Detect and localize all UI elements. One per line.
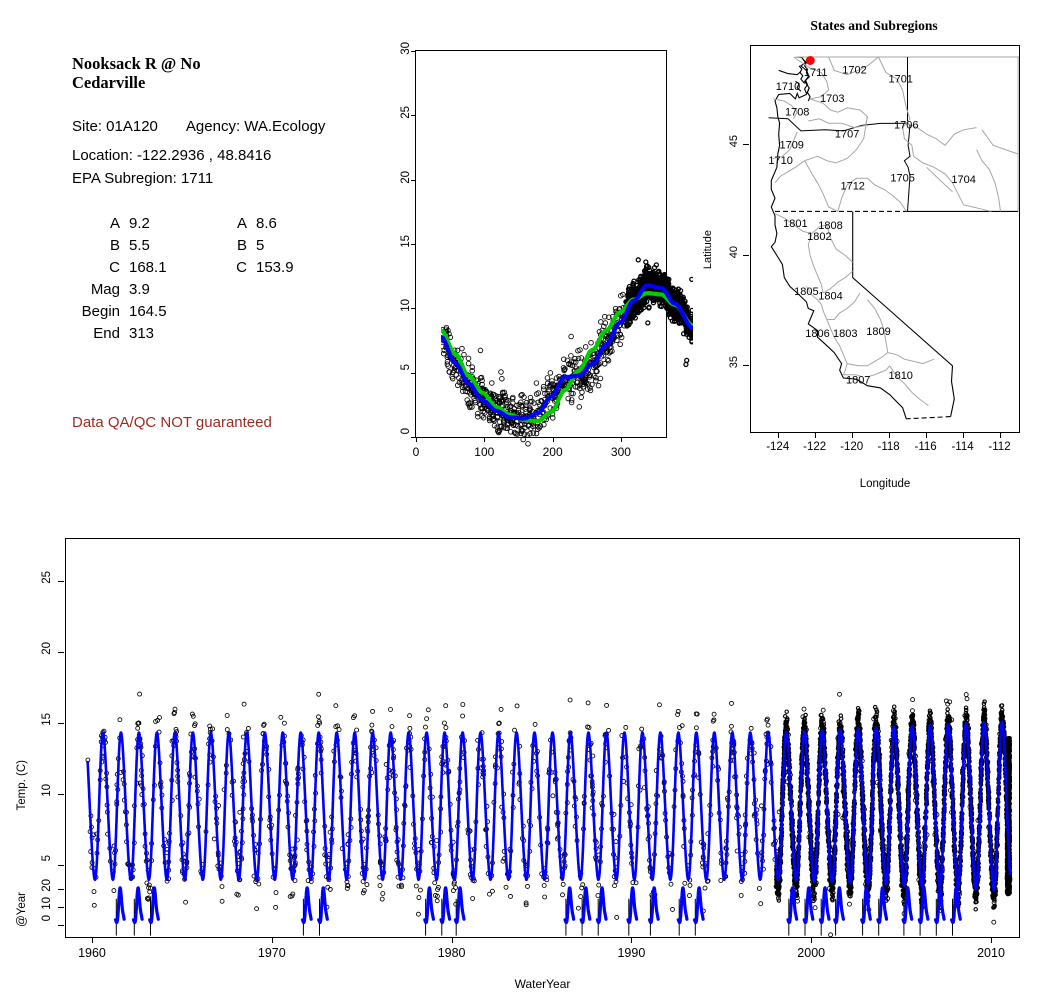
ts-y-tick-label: 20 [41,642,53,655]
states-subregions-map: 1711170217011710170317081706170717091710… [751,46,1019,432]
ts-y-tick-mark [58,925,64,926]
ts-x-tick-mark [452,937,453,943]
subregion-label-1803: 1803 [833,328,857,340]
site-location-marker [806,56,815,65]
ts-y-tick-label: 10 [41,897,53,910]
ts-x-tick-mark [272,937,273,943]
table-row: B 5.5 B 5 [72,237,336,259]
subregion-label-1801: 1801 [783,218,807,230]
subregion-label-1809: 1809 [866,326,890,338]
map-x-tick-label: -124 [766,441,789,453]
param-label: End [72,325,129,347]
map-y-tick-mark [743,255,749,256]
map-y-tick-mark [743,144,749,145]
subregion-label-1805: 1805 [794,286,818,298]
param-value-2: 153.9 [256,259,336,281]
subregion-label-1703: 1703 [820,93,844,105]
ca-mexico-border [906,417,950,419]
x-tick-label: 200 [543,445,563,459]
site-location-label: Location: -122.2936 , 48.8416 [72,147,271,164]
seasonal-scatter-chart [441,81,693,469]
ts-x-tick-mark [92,937,93,943]
y-tick-mark [411,373,416,374]
timeseries-x-axis-label: WaterYear [65,977,1020,991]
subregion-boundary-18 [823,271,853,293]
x-tick-mark [621,437,622,442]
map-x-tick-mark [889,432,890,438]
map-y-tick-mark [743,365,749,366]
id-mt-border-lower [982,130,1018,154]
param-value-2: 8.6 [256,215,336,237]
ts-x-tick-label: 1970 [258,946,286,960]
ts-y-tick-mark [58,865,64,866]
param-value: 9.2 [129,215,207,237]
ts-y-tick-mark [58,581,64,582]
map-x-tick-label: -122 [803,441,826,453]
site-info-panel: Nooksack R @ No Cedarville Site: 01A120A… [0,0,390,500]
subregion-label-1708: 1708 [785,107,809,119]
ts-y-tick-mark [58,907,64,908]
map-x-tick-mark [815,432,816,438]
timeseries-y-axis-label-secondary: @Year [16,892,28,927]
param-label-2: B [207,237,256,259]
param-value: 164.5 [129,303,207,325]
ts-x-tick-label: 1990 [617,946,645,960]
x-tick-label: 100 [474,445,494,459]
ts-y-tick-label: 0 [41,915,53,921]
param-label: Mag [72,281,129,303]
param-label-2: C [207,259,256,281]
timeseries-panel: Temp. (C) @Year WaterYear 51015202501020… [0,510,1038,1001]
seasonal-scatter-panel: 051015202530 0100200300 [390,20,710,510]
y-tick-label: 25 [400,106,412,119]
map-x-tick-label: -112 [988,441,1010,453]
map-x-tick-mark [1000,432,1001,438]
model-parameter-table: A 9.2 A 8.6 B 5.5 B 5 C 168.1 C 153.9 [72,215,336,347]
subregion-label-1711: 1711 [804,67,828,79]
ts-x-tick-label: 2010 [977,946,1005,960]
ts-x-tick-mark [631,937,632,943]
ts-y-tick-label: 15 [41,713,53,726]
ts-y-tick-mark [58,794,64,795]
subregion-label-1710: 1710 [768,155,792,167]
param-value: 5.5 [129,237,207,259]
ts-x-tick-label: 1980 [438,946,466,960]
qa-qc-warning: Data QA/QC NOT guaranteed [72,414,272,431]
subregion-boundary-14 [875,185,907,211]
subregion-labels: 1711170217011710170317081706170717091710… [768,65,975,387]
page-title: Nooksack R @ No Cedarville [72,54,372,92]
ts-x-tick-mark [811,937,812,943]
ts-y-tick-mark [58,652,64,653]
subregion-label-1705: 1705 [890,173,914,185]
site-id-and-agency: Site: 01A120Agency: WA.Ecology [72,118,325,135]
site-title-line2: Cedarville [72,73,372,92]
y-tick-label: 10 [400,299,412,312]
map-x-tick-label: -120 [840,441,863,453]
param-value-2: 5 [256,237,336,259]
map-x-tick-label: -114 [951,441,973,453]
y-tick-label: 20 [400,171,412,184]
param-label: A [72,215,129,237]
map-x-tick-label: -116 [914,441,936,453]
puget-sound-detail-5 [807,88,810,101]
y-tick-label: 30 [400,42,412,55]
subregion-boundary-25 [867,366,889,377]
map-plot-frame: 1711170217011710170317081706170717091710… [750,45,1020,433]
map-y-tick-label: 35 [728,356,740,368]
x-tick-mark [484,437,485,442]
subregion-boundary-22 [847,353,888,366]
subregion-boundary-30 [936,128,977,146]
puget-sound-detail-4 [779,70,801,74]
subregion-label-1706: 1706 [894,120,918,132]
table-row: C 168.1 C 153.9 [72,259,336,281]
y-tick-label: 15 [400,235,412,248]
x-tick-mark [553,437,554,442]
subregion-label-1802: 1802 [807,231,831,243]
ts-y-tick-label: 25 [41,571,53,584]
subregion-label-1704: 1704 [951,174,975,186]
ts-x-tick-label: 2000 [797,946,825,960]
timeseries-y-axis-label: Temp. (C) [16,760,28,810]
map-x-tick-label: -118 [878,441,900,453]
subregion-label-1709: 1709 [779,140,803,152]
subregion-boundary-6 [903,108,914,157]
map-x-tick-mark [926,432,927,438]
subregion-label-1807: 1807 [846,375,870,387]
map-x-tick-mark [778,432,779,438]
param-value: 313 [129,325,207,347]
map-y-tick-label: 45 [728,135,740,147]
subregion-boundary-28 [843,364,847,375]
subregion-boundary-10 [805,161,838,212]
map-panel: States and Subregions 171117021701171017… [710,0,1038,510]
y-tick-label: 5 [400,364,412,370]
subregion-label-1701: 1701 [888,73,912,85]
param-value: 3.9 [129,281,207,303]
subregion-label-1804: 1804 [818,291,842,303]
param-label: C [72,259,129,281]
subregion-label-1702: 1702 [842,65,866,77]
map-x-tick-mark [852,432,853,438]
ts-y-tick-label: 10 [41,784,53,797]
table-row: Mag 3.9 [72,281,336,303]
map-title: States and Subregions [710,18,1038,34]
subregion-label-1806: 1806 [805,328,829,340]
map-y-axis-label: Latitude [702,230,714,269]
ts-x-tick-mark [991,937,992,943]
ts-x-tick-label: 1960 [78,946,106,960]
subregion-label-1707: 1707 [835,129,859,141]
y-tick-label: 0 [400,428,412,434]
agency-label: Agency: WA.Ecology [186,118,326,135]
ts-y-tick-mark [58,889,64,890]
site-title-line1: Nooksack R @ No [72,54,372,73]
seasonal-plot-frame: 051015202530 0100200300 [415,50,667,438]
param-label: B [72,237,129,259]
subregion-label-1710: 1710 [776,81,800,93]
ts-y-tick-label: 20 [41,879,53,892]
table-row: End 313 [72,325,336,347]
map-x-axis-label: Longitude [750,478,1020,490]
table-row: A 9.2 A 8.6 [72,215,336,237]
param-label: Begin [72,303,129,325]
timeseries-plot-frame [65,538,1020,938]
x-tick-label: 0 [413,445,420,459]
subregion-label-1810: 1810 [888,370,912,382]
param-value: 168.1 [129,259,207,281]
site-id-label: Site: 01A120 [72,118,158,135]
x-tick-label: 300 [611,445,631,459]
ts-y-tick-label: 5 [41,855,53,861]
subregion-boundary-13 [977,150,1001,212]
subregion-label-1712: 1712 [840,180,864,192]
ts-y-tick-mark [58,723,64,724]
x-tick-mark [416,437,417,442]
epa-subregion-label: EPA Subregion: 1711 [72,170,213,187]
map-x-tick-mark [963,432,964,438]
param-label-2: A [207,215,256,237]
table-row: Begin 164.5 [72,303,336,325]
map-y-tick-label: 40 [728,246,740,258]
subregion-boundary-31 [964,205,992,212]
watertemp-timeseries-chart [66,539,1019,937]
subregion-boundary-24 [888,353,934,364]
